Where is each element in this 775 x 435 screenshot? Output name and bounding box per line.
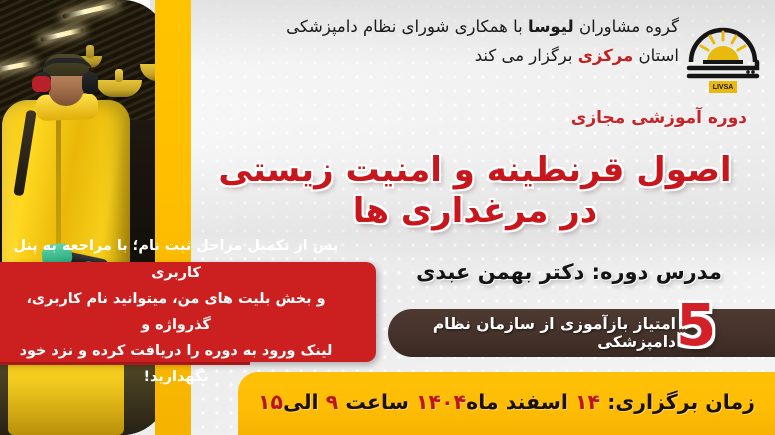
organizer-line-2: استان مرکزی برگزار می کند xyxy=(199,42,679,71)
photo-worker-ear-defender xyxy=(82,72,98,94)
schedule-time-label: ساعت xyxy=(345,390,409,414)
registration-note-box: پس از تکمیل مراحل ثبت نام؛ با مراجعه به … xyxy=(0,262,376,362)
schedule-year: ۱۴۰۴ xyxy=(416,390,466,414)
organizer-brand: لیوسا xyxy=(528,17,574,36)
course-type-label: دوره آموزشی مجازی xyxy=(571,108,747,128)
schedule-label: زمان برگزاری: xyxy=(607,390,755,414)
logo-badge-text: LIVSA xyxy=(713,84,734,91)
province-suffix: برگزار می کند xyxy=(475,46,578,65)
instructor-line: مدرس دوره: دکتر بهمن عبدی xyxy=(389,260,749,284)
photo-worker-ear-cup xyxy=(32,76,51,92)
organizer-prefix: گروه مشاوران xyxy=(574,17,679,36)
schedule-to-word: الی xyxy=(283,390,318,414)
credit-text: امتیاز بازآموزی از سازمان نظام دامپزشکی xyxy=(392,309,682,357)
event-poster: گروه مشاوران لیوسا با همکاری شورای نظام … xyxy=(0,0,775,435)
schedule-text: زمان برگزاری: ۱۴ اسفند ماه۱۴۰۴ ساعت ۹ ال… xyxy=(258,390,755,418)
registration-note-line-1: پس از تکمیل مراحل ثبت نام؛ با مراجعه به … xyxy=(0,233,355,285)
schedule-day: ۱۴ xyxy=(575,390,600,414)
schedule-start-time: ۹ xyxy=(326,390,339,414)
schedule-end-time: ۱۵ xyxy=(258,390,283,414)
schedule-month: اسفند ماه xyxy=(466,390,568,414)
organizer-line-1: گروه مشاوران لیوسا با همکاری شورای نظام … xyxy=(199,13,679,42)
province-name: مرکزی xyxy=(578,46,633,65)
registration-note-line-2: و بخش بلیت های من، میتوانید نام کاربری، … xyxy=(0,286,355,338)
livsa-logo: LIVSA xyxy=(679,6,767,98)
course-title: اصول قرنطینه و امنیت زیستی در مرغداری ها xyxy=(195,150,755,233)
organizer-suffix: با همکاری شورای نظام دامپزشکی xyxy=(286,17,528,36)
province-prefix: استان xyxy=(633,46,679,65)
registration-note-line-3: لینک ورود به دوره را دریافت کرده و نزد خ… xyxy=(0,338,355,390)
organizer-header: گروه مشاوران لیوسا با همکاری شورای نظام … xyxy=(199,13,679,71)
credit-points-number: 5 xyxy=(676,296,716,354)
